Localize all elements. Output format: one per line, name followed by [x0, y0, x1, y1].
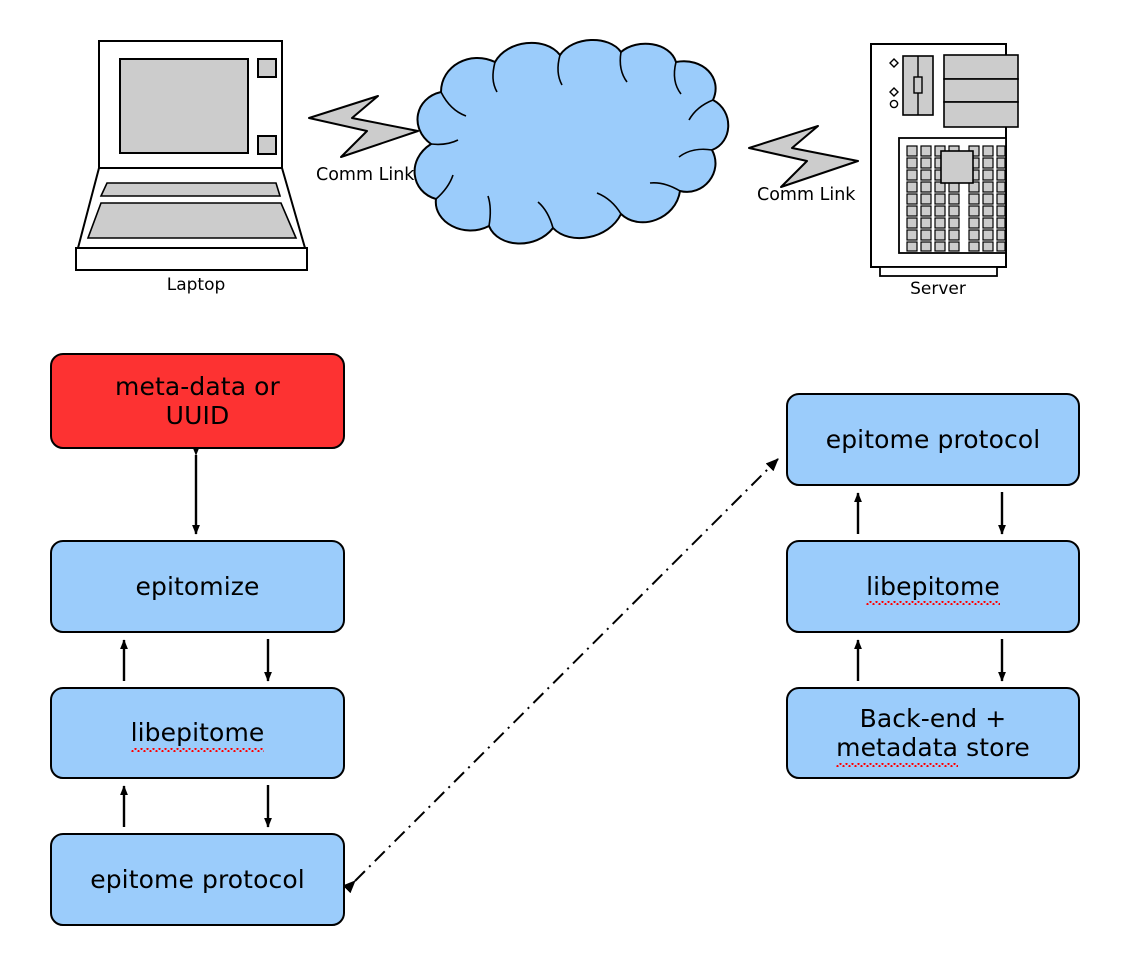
lightning-bolt-icon-left — [309, 96, 418, 157]
connector-epitomize-libepitome — [124, 639, 268, 681]
diagram-canvas: Laptop Server Comm Link Comm Link meta-d… — [0, 0, 1124, 976]
node-epitomize[interactable]: epitomize — [50, 540, 345, 633]
node-server-libepitome[interactable]: libepitome — [786, 540, 1080, 633]
node-server-epitome-protocol[interactable]: epitome protocol — [786, 393, 1080, 486]
server-caption: Server — [888, 279, 988, 299]
diagram-artwork — [0, 0, 1124, 976]
node-server-epitome-protocol-label: epitome protocol — [820, 425, 1047, 455]
node-server-libepitome-label: libepitome — [860, 572, 1006, 602]
node-client-epitome-protocol[interactable]: epitome protocol — [50, 833, 345, 926]
laptop-caption: Laptop — [146, 275, 246, 295]
node-backend-metadata-store[interactable]: Back-end +metadata store — [786, 687, 1080, 779]
server-icon — [871, 44, 1018, 276]
connector-diagonal-protocol-link — [355, 459, 778, 881]
connector-server-libepitome-backend — [858, 639, 1002, 681]
node-client-libepitome-label: libepitome — [125, 718, 271, 748]
node-epitomize-label: epitomize — [130, 572, 266, 602]
node-backend-metadata-store-label: Back-end +metadata store — [830, 704, 1036, 763]
node-meta-data-or-uuid[interactable]: meta-data orUUID — [50, 353, 345, 449]
node-meta-data-or-uuid-label: meta-data orUUID — [109, 372, 286, 431]
node-client-epitome-protocol-label: epitome protocol — [84, 865, 311, 895]
cloud-icon — [415, 40, 729, 244]
laptop-icon — [76, 41, 307, 270]
connector-libepitome-protocol — [124, 785, 268, 827]
connector-server-protocol-libepitome — [858, 492, 1002, 534]
node-client-libepitome[interactable]: libepitome — [50, 687, 345, 779]
comm-link-label-left: Comm Link — [316, 165, 414, 185]
lightning-bolt-icon-right — [749, 126, 858, 187]
comm-link-label-right: Comm Link — [757, 185, 855, 205]
